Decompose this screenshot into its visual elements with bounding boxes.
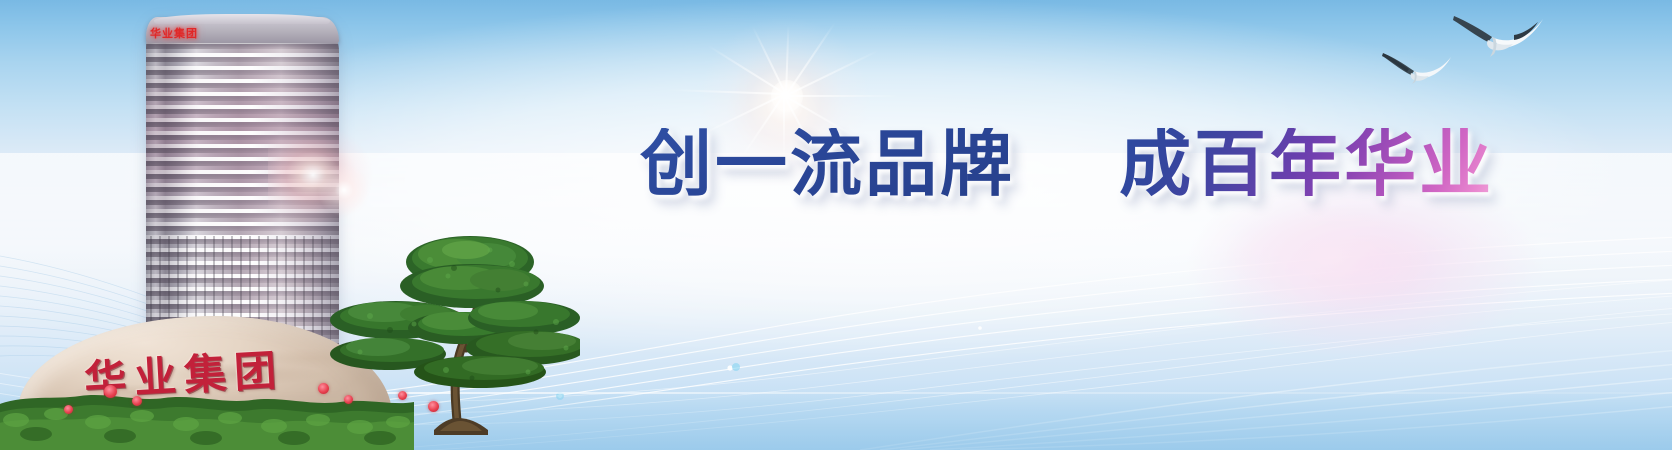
- tower-floor-slabs: [146, 22, 339, 352]
- red-flower: [344, 395, 353, 404]
- red-flower: [318, 383, 329, 394]
- red-flower: [104, 385, 117, 398]
- tower-body: [146, 22, 339, 352]
- sun-ray-icon: [785, 95, 900, 97]
- tower-roof-cap: [154, 14, 330, 24]
- company-hero-banner: 华业集团 华业集团: [0, 0, 1672, 450]
- tree-foliage: [330, 236, 580, 388]
- slogan-text: 创一流品牌 成百年华业: [640, 128, 1494, 200]
- seagull-icon: [1452, 12, 1544, 64]
- tower-sun-glint-core: [314, 160, 374, 220]
- red-flower: [64, 405, 73, 414]
- red-flower: [428, 401, 439, 412]
- green-hedge: [0, 384, 414, 450]
- seagull-icon: [1381, 48, 1453, 90]
- red-flower: [132, 396, 142, 406]
- red-flower: [398, 391, 407, 400]
- tower-rooftop-sign: 华业集团: [150, 25, 198, 41]
- pink-glow-bloom-inner: [1180, 190, 1480, 340]
- slogan-phrase-2: 成百年华业: [1119, 128, 1494, 200]
- slogan-phrase-1: 创一流品牌: [640, 128, 1015, 200]
